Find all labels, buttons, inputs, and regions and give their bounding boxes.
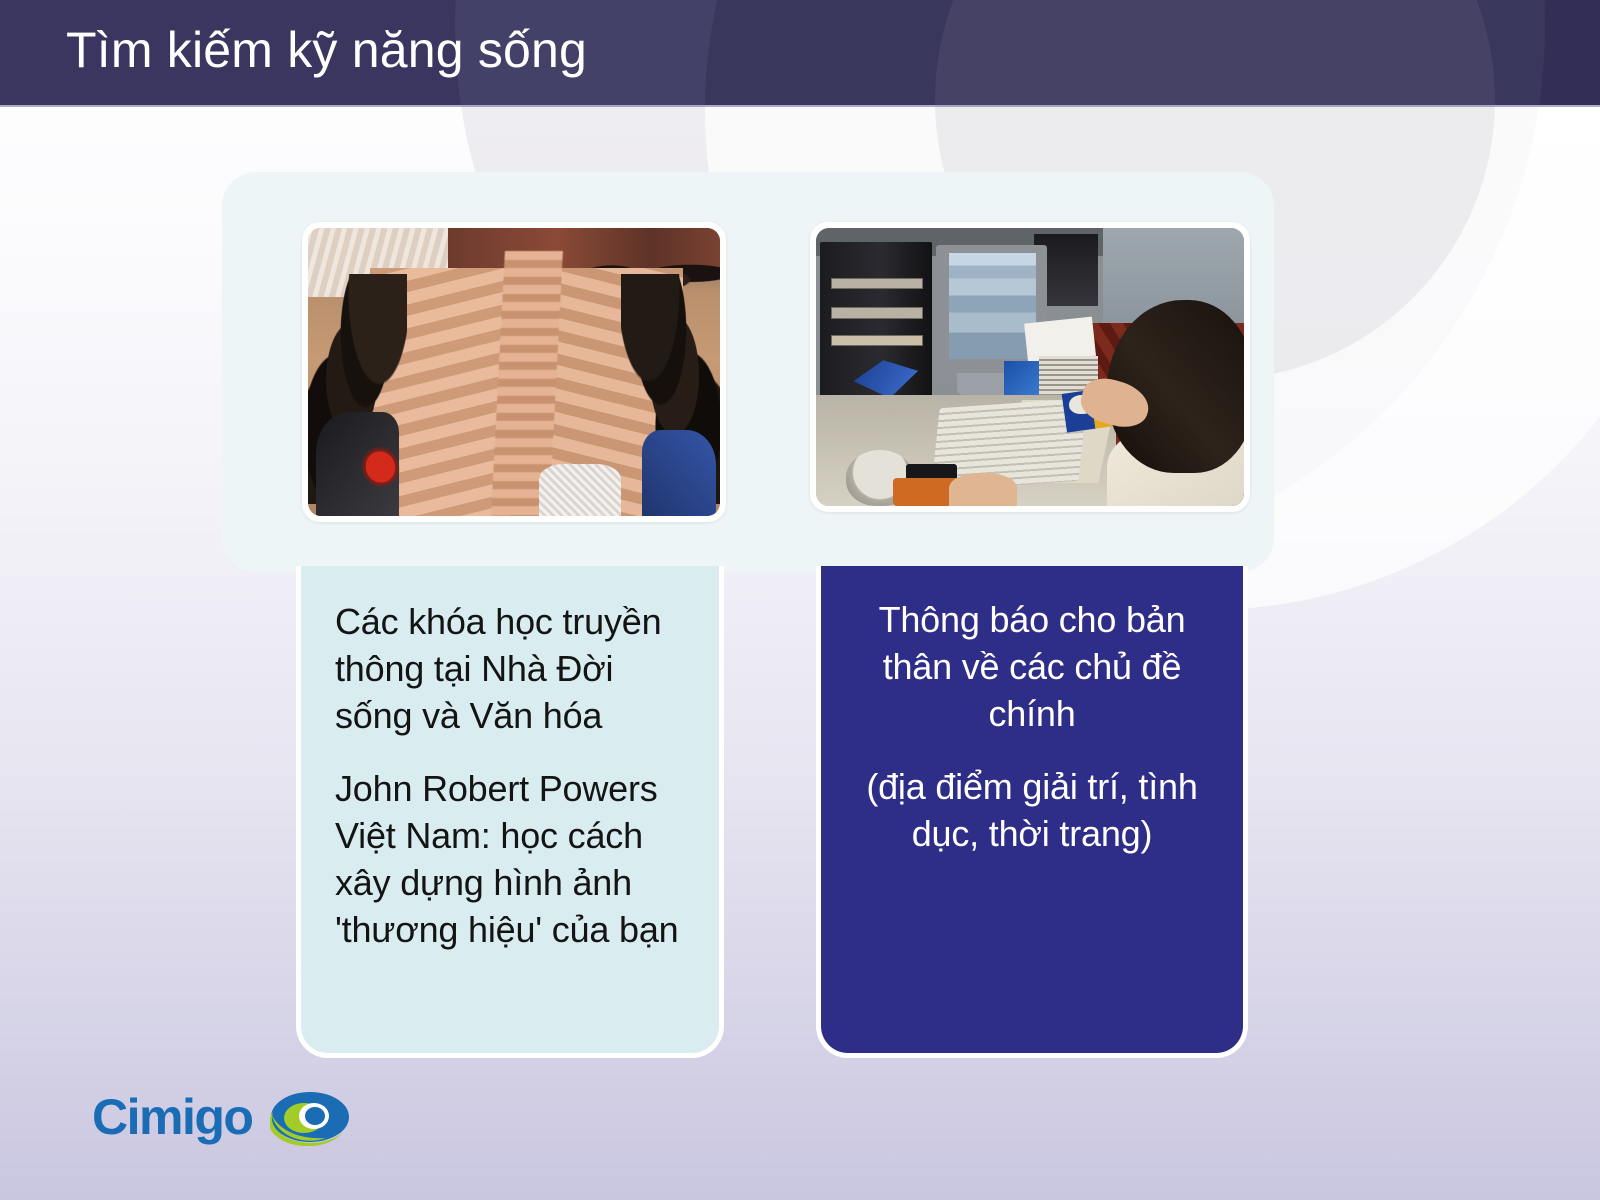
photo2-blue-box [1004, 361, 1038, 394]
left-paragraph-2: John Robert Powers Việt Nam: học cách xâ… [335, 765, 685, 953]
photo2-drive-bay-3 [831, 335, 922, 347]
photo2-drive-bay-1 [831, 278, 922, 290]
right-paragraph-2: (địa điểm giải trí, tình dục, thời trang… [851, 763, 1213, 857]
left-paragraph-1: Các khóa học truyền thông tại Nhà Đời số… [335, 598, 685, 739]
slide: Tìm kiếm kỹ năng sống [0, 0, 1600, 1200]
photo1-white-skirt [539, 464, 621, 516]
photo2-monitor-screen [949, 253, 1037, 359]
photo-life-skills-workshop [302, 222, 726, 522]
header-divider [0, 105, 1600, 107]
slide-header: Tìm kiếm kỹ năng sống [0, 0, 1600, 105]
page-title: Tìm kiếm kỹ năng sống [66, 17, 587, 83]
photo2-girl-arm-left [949, 473, 1017, 506]
photo1-blue-dress [642, 430, 716, 516]
header-decor-arc-inner [935, 0, 1495, 105]
photo-life-skills-workshop-image [308, 228, 720, 516]
cimigo-eye-icon [270, 1088, 350, 1146]
photo2-drive-bay-2 [831, 307, 922, 319]
photo-girl-at-computer [810, 222, 1250, 512]
text-box-left: Các khóa học truyền thông tại Nhà Đời số… [296, 566, 724, 1058]
photo2-tower-decal [854, 360, 919, 398]
right-paragraph-1: Thông báo cho bản thân về các chủ đề chí… [851, 596, 1213, 737]
photo-girl-at-computer-image [816, 228, 1244, 506]
cimigo-logo: Cimigo [92, 1088, 350, 1146]
text-box-right: Thông báo cho bản thân về các chủ đề chí… [816, 566, 1248, 1058]
cimigo-wordmark: Cimigo [92, 1091, 252, 1143]
